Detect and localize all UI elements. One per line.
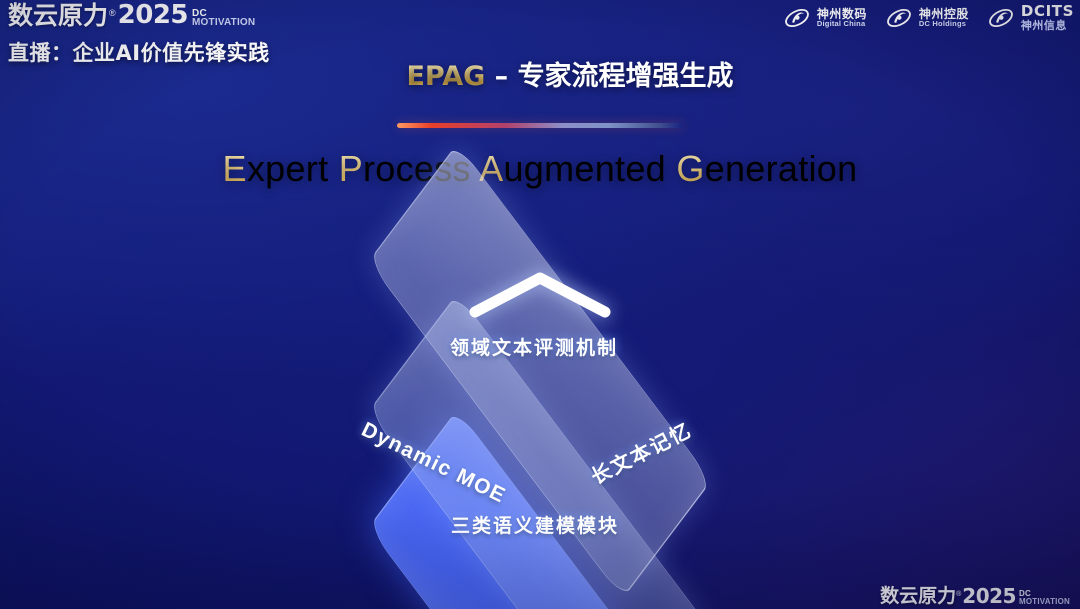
watermark-dc-motivation: DC MOTIVATION	[1019, 590, 1070, 605]
page-subtitle: Expert Process Augmented Generation	[0, 148, 1080, 190]
brand-watermark: 数云原力 ® 2025 DC MOTIVATION	[880, 586, 1070, 606]
watermark-name-cn: 数云原力	[880, 587, 956, 606]
partner-logo-dc-holdings: 神州控股 DC Holdings	[885, 4, 969, 32]
brand-dc-motivation: DC MOTIVATION	[192, 9, 255, 27]
swirl-icon	[783, 4, 811, 32]
subtitle-part: eneration	[705, 148, 858, 189]
subtitle-part: G	[676, 148, 704, 189]
partner-logo-dcits: DCITS 神州信息	[987, 4, 1074, 32]
swirl-icon	[885, 4, 913, 32]
partner-name-en: 神州信息	[1021, 20, 1074, 32]
watermark-dc-line2: MOTIVATION	[1019, 598, 1070, 605]
partner-text: 神州控股 DC Holdings	[919, 8, 969, 28]
subtitle-part: xpert	[247, 148, 339, 189]
title-acronym: EPAG	[406, 61, 485, 92]
layered-stack-diagram: 领域文本评测机制 Dynamic MOE 长文本记忆 三类语义建模模块	[0, 232, 1080, 562]
title-chinese: 专家流程增强生成	[518, 61, 734, 92]
partner-name-cn: DCITS	[1021, 4, 1074, 20]
subtitle-part: E	[223, 148, 247, 189]
title-dash: –	[485, 61, 517, 92]
partner-name-en: Digital China	[817, 20, 867, 28]
stack-layer-top-label: 领域文本评测机制	[450, 333, 618, 360]
swirl-icon	[987, 4, 1015, 32]
watermark-registered-mark: ®	[956, 591, 961, 598]
subtitle-part: P	[339, 148, 363, 189]
brand-dc-line2: MOTIVATION	[192, 18, 255, 27]
title-divider-rule	[397, 123, 683, 128]
brand-logo: 数云原力 ® 2025 DC MOTIVATION	[8, 2, 338, 28]
partner-text: DCITS 神州信息	[1021, 4, 1074, 31]
brand-year: 2025	[118, 2, 188, 28]
chevron-up-icon	[465, 270, 615, 318]
page-title: EPAG – 专家流程增强生成	[0, 54, 1080, 93]
brand-name-cn: 数云原力	[8, 3, 108, 28]
partner-logo-group: 神州数码 Digital China 神州控股 DC Holdings	[783, 4, 1074, 32]
partner-text: 神州数码 Digital China	[817, 8, 867, 28]
stack-layer-bottom-label: 三类语义建模模块	[451, 511, 619, 538]
slide-canvas: 数云原力 ® 2025 DC MOTIVATION 直播：企业AI价值先锋实践 …	[0, 0, 1080, 609]
brand-registered-mark: ®	[109, 9, 116, 18]
subtitle-part: ugmented	[503, 148, 676, 189]
partner-logo-digital-china: 神州数码 Digital China	[783, 4, 867, 32]
partner-name-en: DC Holdings	[919, 20, 969, 28]
watermark-year: 2025	[962, 586, 1016, 606]
